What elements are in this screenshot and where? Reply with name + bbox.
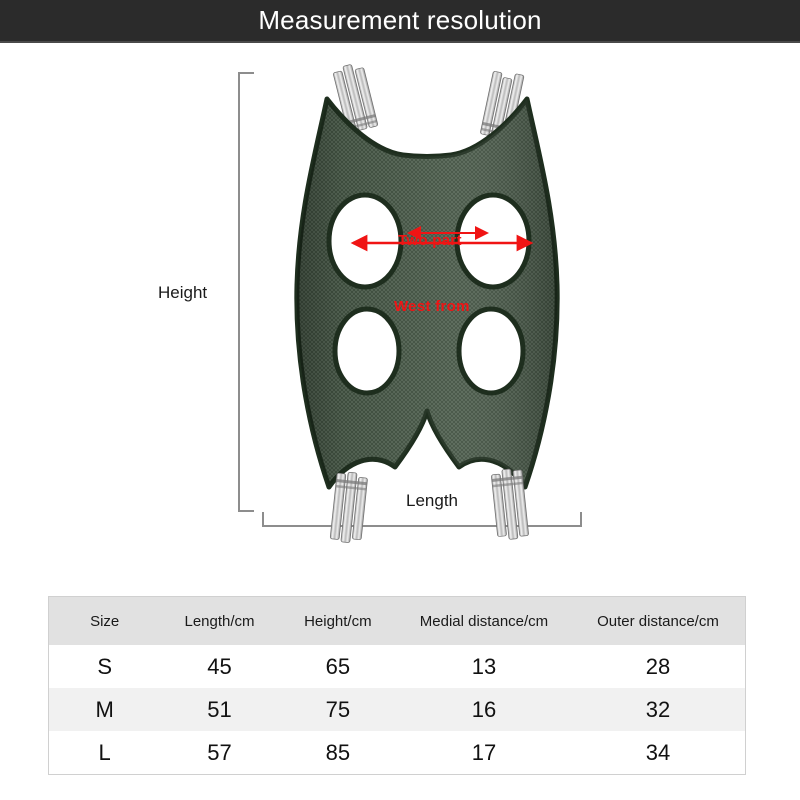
hole-lower-left (335, 309, 399, 393)
table-row: M 51 75 16 32 (49, 688, 745, 731)
height-bracket (238, 72, 254, 512)
cell-medial: 17 (397, 731, 571, 774)
cell-size: S (49, 645, 160, 688)
hole-upper-right (457, 195, 529, 287)
cell-size: M (49, 688, 160, 731)
medial-distance-note: Two part (398, 232, 462, 249)
page-header: Measurement resolution (0, 0, 800, 43)
column-header-height: Height/cm (279, 597, 397, 645)
cell-length: 57 (160, 731, 278, 774)
height-label: Height (158, 283, 207, 303)
cell-length: 51 (160, 688, 278, 731)
cell-medial: 16 (397, 688, 571, 731)
column-header-outer: Outer distance/cm (571, 597, 745, 645)
cell-length: 45 (160, 645, 278, 688)
cell-size: L (49, 731, 160, 774)
cell-outer: 28 (571, 645, 745, 688)
cell-height: 65 (279, 645, 397, 688)
cell-outer: 34 (571, 731, 745, 774)
table-row: L 57 85 17 34 (49, 731, 745, 774)
table-header-row: Size Length/cm Height/cm Medial distance… (49, 597, 745, 645)
product-body (297, 99, 557, 487)
column-header-medial: Medial distance/cm (397, 597, 571, 645)
cell-height: 75 (279, 688, 397, 731)
hole-lower-right (459, 309, 523, 393)
outer-distance-note: West from (394, 298, 470, 315)
product-diagram: Height Length (0, 43, 800, 588)
column-header-size: Size (49, 597, 160, 645)
cell-outer: 32 (571, 688, 745, 731)
hole-upper-left (329, 195, 401, 287)
table-row: S 45 65 13 28 (49, 645, 745, 688)
page-title: Measurement resolution (258, 5, 541, 36)
column-header-length: Length/cm (160, 597, 278, 645)
size-chart-table: Size Length/cm Height/cm Medial distance… (48, 596, 746, 775)
cell-height: 85 (279, 731, 397, 774)
cell-medial: 13 (397, 645, 571, 688)
